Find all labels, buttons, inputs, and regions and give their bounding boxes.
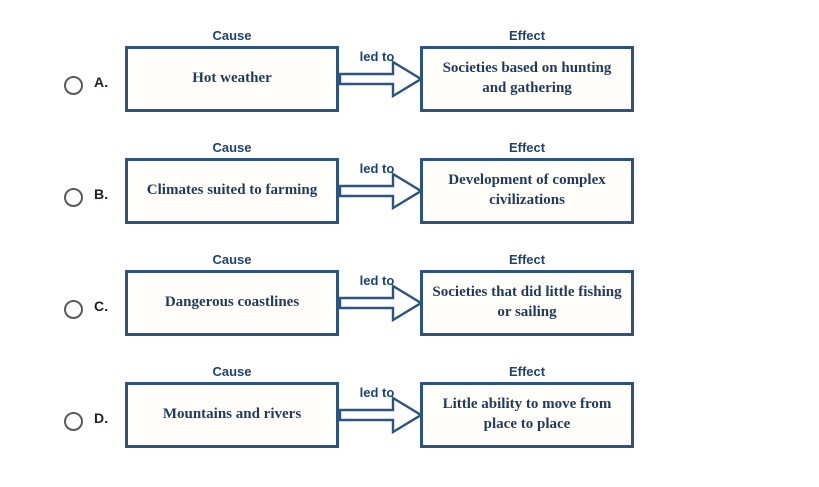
option-letter-d: D. [94, 410, 108, 426]
led-to-arrow-icon-c [339, 280, 423, 326]
option-letter-c: C. [94, 298, 108, 314]
led-to-arrow-icon-d [339, 392, 423, 438]
effect-box-b: Development of complex civilizations [420, 158, 634, 224]
led-to-arrow-icon-a [339, 56, 423, 102]
cause-box-c: Dangerous coastlines [125, 270, 339, 336]
radio-button-d[interactable] [64, 412, 83, 431]
answer-options-list: A. Cause Hot weather led to Effect Socie… [0, 0, 819, 487]
option-letter-b: B. [94, 186, 108, 202]
cause-text-a: Hot weather [192, 69, 272, 89]
cause-caption-b: Cause [125, 140, 339, 155]
led-to-arrow-icon-b [339, 168, 423, 214]
cause-text-c: Dangerous coastlines [165, 293, 299, 313]
effect-text-c: Societies that did little fishing or sai… [431, 283, 623, 323]
effect-text-a: Societies based on hunting and gathering [431, 59, 623, 99]
cause-box-b: Climates suited to farming [125, 158, 339, 224]
answer-option-a[interactable]: A. Cause Hot weather led to Effect Socie… [0, 28, 819, 140]
option-letter-a: A. [94, 74, 108, 90]
radio-button-c[interactable] [64, 300, 83, 319]
cause-caption-a: Cause [125, 28, 339, 43]
effect-caption-d: Effect [420, 364, 634, 379]
radio-button-b[interactable] [64, 188, 83, 207]
effect-text-b: Development of complex civilizations [431, 171, 623, 211]
radio-button-a[interactable] [64, 76, 83, 95]
answer-option-b[interactable]: B. Cause Climates suited to farming led … [0, 140, 819, 252]
answer-option-d[interactable]: D. Cause Mountains and rivers led to Eff… [0, 364, 819, 476]
effect-box-d: Little ability to move from place to pla… [420, 382, 634, 448]
cause-caption-c: Cause [125, 252, 339, 267]
cause-text-d: Mountains and rivers [163, 405, 301, 425]
effect-caption-a: Effect [420, 28, 634, 43]
effect-caption-b: Effect [420, 140, 634, 155]
cause-box-a: Hot weather [125, 46, 339, 112]
effect-box-a: Societies based on hunting and gathering [420, 46, 634, 112]
effect-text-d: Little ability to move from place to pla… [431, 395, 623, 435]
cause-text-b: Climates suited to farming [147, 181, 317, 201]
answer-option-c[interactable]: C. Cause Dangerous coastlines led to Eff… [0, 252, 819, 364]
cause-caption-d: Cause [125, 364, 339, 379]
effect-box-c: Societies that did little fishing or sai… [420, 270, 634, 336]
effect-caption-c: Effect [420, 252, 634, 267]
cause-box-d: Mountains and rivers [125, 382, 339, 448]
